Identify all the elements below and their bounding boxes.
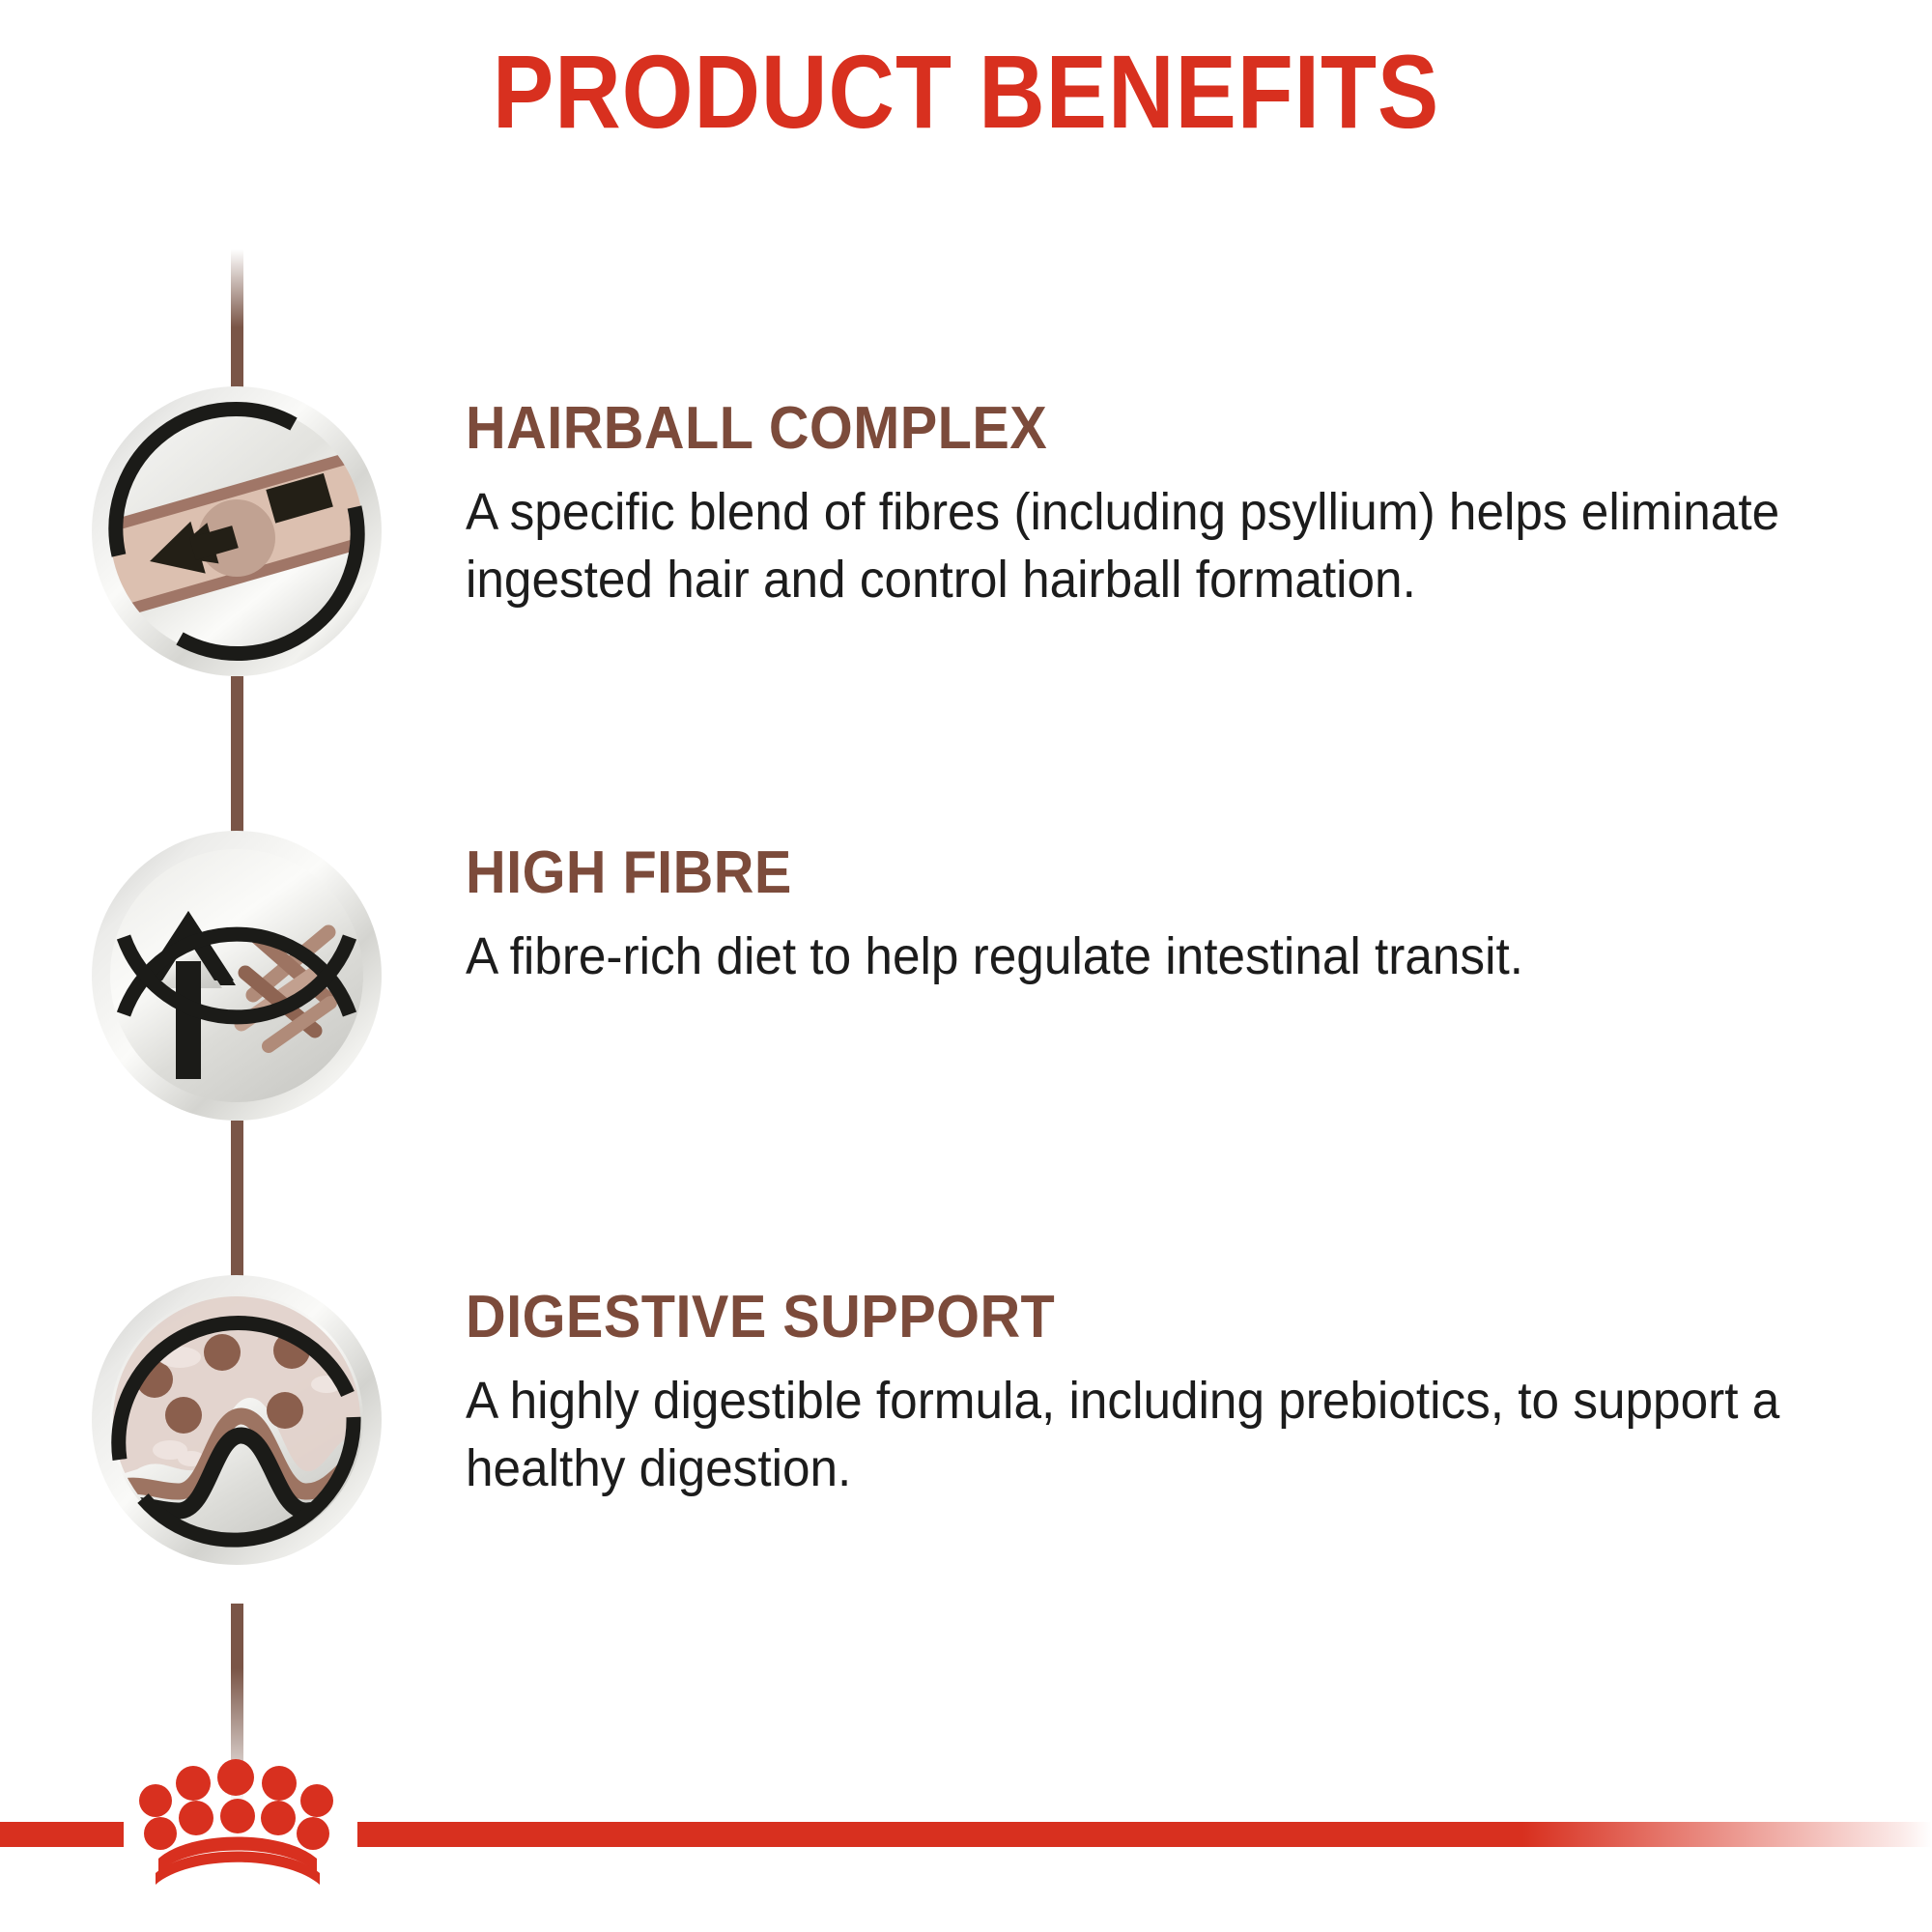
benefit-description: A fibre-rich diet to help regulate intes…	[466, 923, 1523, 990]
benefit-row-hairball-complex: HAIRBALL COMPLEX A specific blend of fib…	[0, 382, 1932, 681]
product-benefits-panel: PRODUCT BENEFITS	[0, 0, 1932, 1932]
digestive-wave-prebiotics-icon	[87, 1270, 386, 1570]
footer-bar-left	[0, 1822, 124, 1847]
benefit-title: DIGESTIVE SUPPORT	[466, 1288, 1786, 1348]
up-arrow-fibre-strands-icon	[87, 826, 386, 1125]
footer-bar-right	[357, 1822, 1932, 1847]
benefit-text-hairball-complex: HAIRBALL COMPLEX A specific blend of fib…	[466, 382, 1886, 613]
benefit-title: HAIRBALL COMPLEX	[466, 399, 1786, 459]
benefit-title: HIGH FIBRE	[466, 843, 1501, 903]
benefit-row-high-fibre: HIGH FIBRE A fibre-rich diet to help reg…	[0, 826, 1932, 1125]
benefit-text-high-fibre: HIGH FIBRE A fibre-rich diet to help reg…	[466, 826, 1579, 990]
benefit-text-digestive-support: DIGESTIVE SUPPORT A highly digestible fo…	[466, 1270, 1886, 1502]
benefit-row-digestive-support: DIGESTIVE SUPPORT A highly digestible fo…	[0, 1270, 1932, 1570]
royal-canin-crown-logo	[124, 1758, 357, 1893]
benefit-description: A specific blend of fibres (including ps…	[466, 478, 1815, 613]
benefit-description: A highly digestible formula, including p…	[466, 1367, 1815, 1502]
page-title: PRODUCT BENEFITS	[116, 37, 1816, 146]
footer	[0, 1758, 1932, 1932]
hairball-intestine-arrow-icon	[87, 382, 386, 681]
